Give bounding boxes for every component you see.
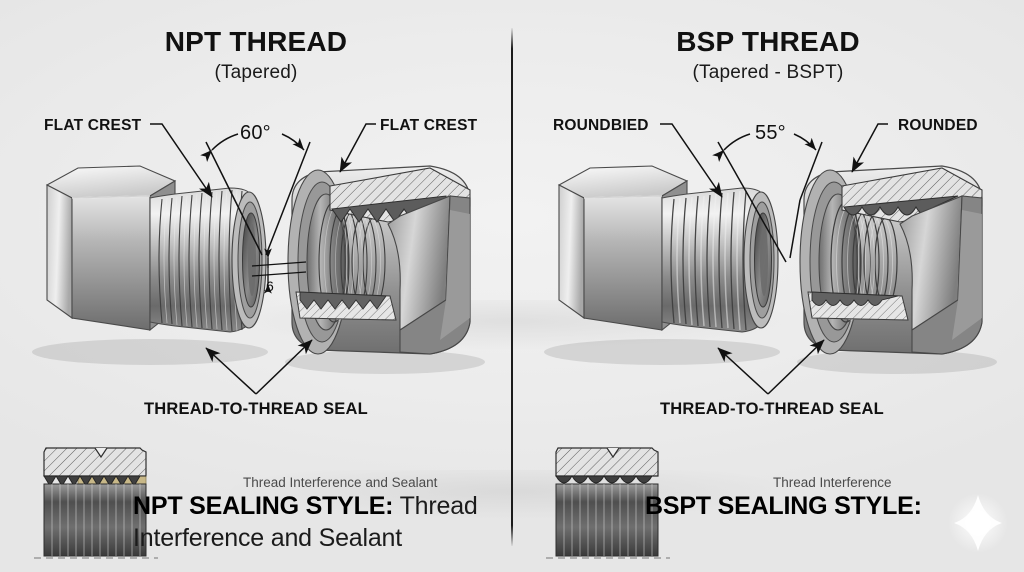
npt-caption-rest2: Interference and Sealant bbox=[133, 524, 402, 552]
npt-label-flat-crest-right: FLAT CREST bbox=[380, 117, 477, 135]
diagram-canvas: NPT THREAD (Tapered) FLAT CREST FLAT CRE… bbox=[0, 0, 1024, 572]
npt-taper-label: 1:16 bbox=[246, 278, 274, 294]
bspt-caption-bold: BSPT SEALING STYLE: bbox=[645, 492, 922, 520]
bspt-caption-small: Thread Interference bbox=[773, 475, 892, 490]
npt-angle-label: 60° bbox=[240, 122, 271, 145]
npt-label-seal: THREAD-TO-THREAD SEAL bbox=[144, 400, 368, 419]
bsp-subtitle: (Tapered - BSPT) bbox=[512, 62, 1024, 84]
npt-label-flat-crest-left: FLAT CREST bbox=[44, 117, 141, 135]
npt-caption-main: NPT SEALING STYLE: Thread Interference a… bbox=[133, 490, 493, 554]
npt-title: NPT THREAD bbox=[0, 26, 512, 58]
bsp-label-seal: THREAD-TO-THREAD SEAL bbox=[660, 400, 884, 419]
bspt-caption-main: BSPT SEALING STYLE: bbox=[645, 490, 1005, 522]
bsp-label-rounded-left: ROUNDBIED bbox=[553, 117, 649, 135]
panel-bsp: BSP THREAD (Tapered - BSPT) ROUNDBIED RO… bbox=[512, 0, 1024, 572]
npt-caption-bold: NPT SEALING STYLE: bbox=[133, 492, 393, 520]
bsp-angle-label: 55° bbox=[755, 122, 786, 145]
bsp-title: BSP THREAD bbox=[512, 26, 1024, 58]
npt-caption-rest1: Thread bbox=[393, 492, 477, 520]
npt-subtitle: (Tapered) bbox=[0, 62, 512, 84]
npt-caption-small: Thread Interference and Sealant bbox=[243, 475, 437, 490]
bsp-label-rounded-right: ROUNDED bbox=[898, 117, 978, 135]
